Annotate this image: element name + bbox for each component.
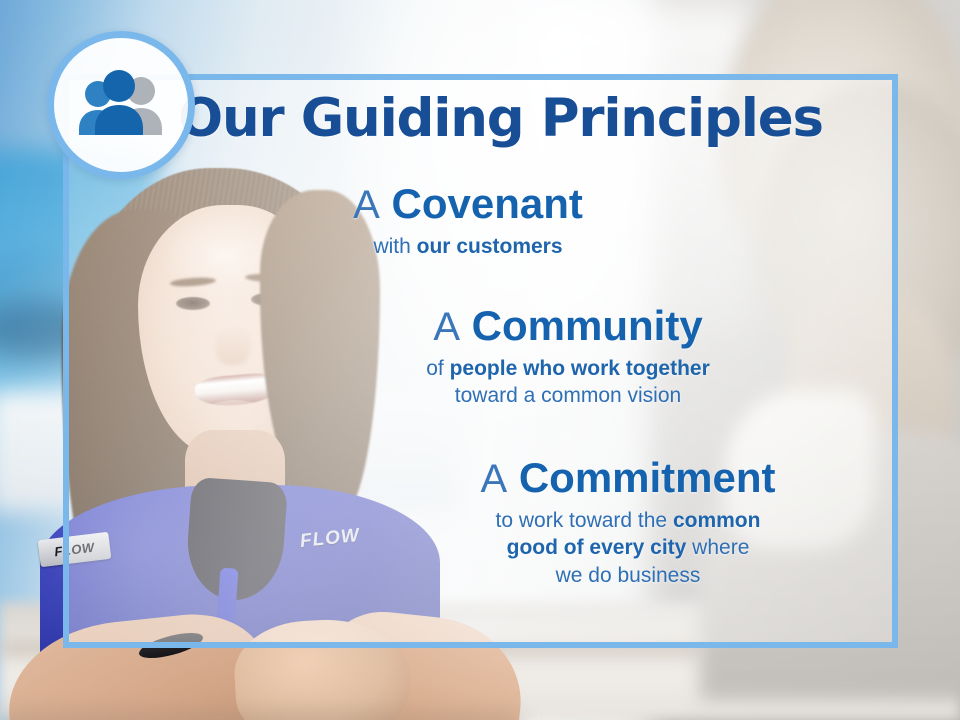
- subtext-segment: to work toward the: [496, 509, 673, 532]
- principle-lead: A: [353, 183, 380, 227]
- principle-headline: A Covenant: [228, 182, 708, 227]
- principle-community: A Community of people who work together …: [288, 304, 848, 410]
- principle-subtext-line: good of every city where: [363, 534, 893, 562]
- table-contact-shadow: [0, 712, 520, 720]
- principle-subtext-line: of people who work together: [288, 355, 848, 383]
- promo-graphic: FLOW FLOW Our Guiding Principles A Coven…: [0, 0, 960, 720]
- subtext-segment-bold: our customers: [417, 235, 563, 258]
- people-group-badge: [47, 31, 195, 179]
- subtext-segment: of: [426, 357, 449, 380]
- principle-keyword: Commitment: [519, 454, 776, 501]
- principle-subtext-line: with our customers: [228, 233, 708, 261]
- principle-covenant: A Covenant with our customers: [228, 182, 708, 260]
- principle-commitment: A Commitment to work toward the common g…: [363, 456, 893, 590]
- principle-lead: A: [480, 457, 507, 501]
- principle-subtext-line: to work toward the common: [363, 507, 893, 535]
- subtext-segment: we do business: [556, 564, 701, 587]
- subtext-segment: toward a common vision: [455, 384, 681, 407]
- principle-subtext-line: we do business: [363, 562, 893, 590]
- principle-subtext: with our customers: [228, 233, 708, 261]
- principle-subtext: of people who work together toward a com…: [288, 355, 848, 410]
- principle-keyword: Covenant: [392, 180, 583, 227]
- content-area: Our Guiding Principles A Covenant with o…: [63, 74, 898, 648]
- subtext-segment: with: [373, 235, 416, 258]
- principle-keyword: Community: [472, 302, 703, 349]
- principle-subtext: to work toward the common good of every …: [363, 507, 893, 590]
- principle-headline: A Commitment: [363, 456, 893, 501]
- subtext-segment: where: [686, 536, 749, 559]
- subtext-segment-bold: good of every city: [507, 536, 687, 559]
- people-group-icon: [71, 69, 171, 141]
- subtext-segment-bold: people who work together: [450, 357, 710, 380]
- subtext-segment-bold: common: [673, 509, 761, 532]
- principle-headline: A Community: [288, 304, 848, 349]
- principle-lead: A: [433, 305, 460, 349]
- principle-subtext-line: toward a common vision: [288, 382, 848, 410]
